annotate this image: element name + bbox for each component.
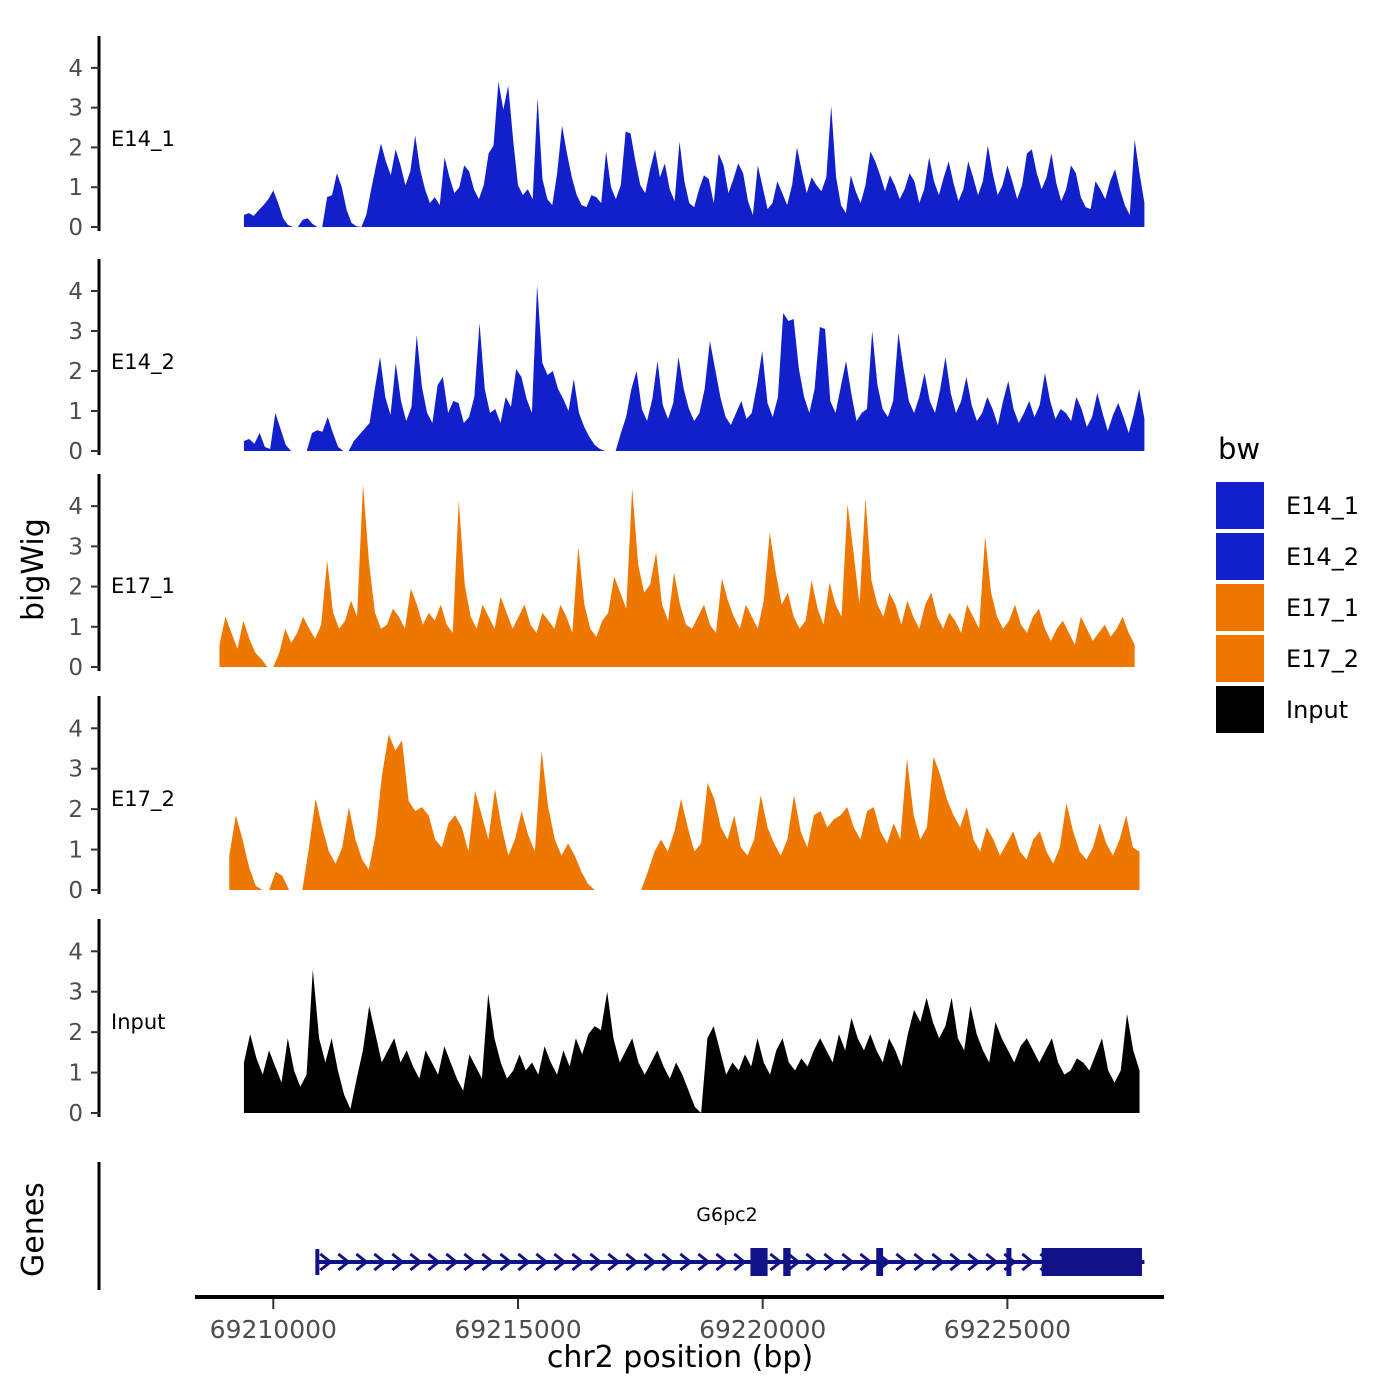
legend: bw E14_1E14_2E17_1E17_2Input bbox=[1216, 432, 1359, 735]
track-e14-1: 01234 bbox=[68, 36, 1144, 241]
legend-label: E17_2 bbox=[1286, 645, 1359, 673]
y-tick-label: 1 bbox=[68, 175, 83, 201]
y-tick-label: 0 bbox=[68, 878, 83, 904]
x-axis: 69210000692150006922000069225000 bbox=[195, 1297, 1164, 1344]
legend-swatch bbox=[1216, 533, 1264, 580]
x-axis-title: chr2 position (bp) bbox=[180, 1340, 1180, 1375]
legend-item-input[interactable]: Input bbox=[1216, 684, 1359, 735]
gene-exon bbox=[1042, 1248, 1142, 1276]
signal-area bbox=[244, 285, 1144, 451]
track-e17-2: 01234 bbox=[68, 696, 1139, 904]
y-tick-label: 0 bbox=[68, 215, 83, 241]
y-tick-label: 3 bbox=[68, 534, 83, 560]
track-input: 01234 bbox=[68, 919, 1139, 1127]
y-tick-label: 1 bbox=[68, 399, 83, 425]
legend-item-e17-1[interactable]: E17_1 bbox=[1216, 582, 1359, 633]
legend-label: E17_1 bbox=[1286, 594, 1359, 622]
signal-area bbox=[219, 484, 1134, 667]
y-tick-label: 2 bbox=[68, 797, 83, 823]
legend-label: E14_2 bbox=[1286, 543, 1359, 571]
legend-swatch bbox=[1216, 686, 1264, 733]
y-tick-label: 1 bbox=[68, 838, 83, 864]
genome-browser-plot: 0123401234012340123401234692100006921500… bbox=[0, 0, 1400, 1400]
y-tick-label: 4 bbox=[68, 56, 83, 82]
y-tick-label: 0 bbox=[68, 1101, 83, 1127]
track-label-input: Input bbox=[111, 1010, 165, 1034]
y-tick-label: 3 bbox=[68, 319, 83, 345]
legend-swatch bbox=[1216, 482, 1264, 529]
y-tick-label: 0 bbox=[68, 655, 83, 681]
legend-label: E14_1 bbox=[1286, 492, 1359, 520]
legend-swatch bbox=[1216, 584, 1264, 631]
gene-exon bbox=[876, 1248, 883, 1276]
legend-label: Input bbox=[1286, 696, 1348, 724]
legend-title: bw bbox=[1216, 432, 1359, 466]
y-tick-label: 2 bbox=[68, 359, 83, 385]
gene-exon bbox=[783, 1248, 790, 1276]
y-tick-label: 1 bbox=[68, 1061, 83, 1087]
y-tick-label: 4 bbox=[68, 494, 83, 520]
signal-area bbox=[244, 82, 1144, 227]
track-label-e17-2: E17_2 bbox=[111, 787, 175, 811]
legend-item-e14-1[interactable]: E14_1 bbox=[1216, 480, 1359, 531]
y-tick-label: 2 bbox=[68, 575, 83, 601]
y-tick-label: 4 bbox=[68, 716, 83, 742]
track-e17-1: 01234 bbox=[68, 474, 1134, 681]
y-tick-label: 0 bbox=[68, 439, 83, 465]
y-tick-label: 4 bbox=[68, 279, 83, 305]
y-tick-label: 3 bbox=[68, 757, 83, 783]
legend-items: E14_1E14_2E17_1E17_2Input bbox=[1216, 480, 1359, 735]
gene-exon bbox=[1006, 1248, 1011, 1276]
y-tick-label: 2 bbox=[68, 1020, 83, 1046]
track-e14-2: 01234 bbox=[68, 259, 1144, 465]
legend-swatch bbox=[1216, 635, 1264, 682]
y-tick-label: 4 bbox=[68, 939, 83, 965]
gene-name-label: G6pc2 bbox=[577, 1204, 877, 1226]
y-tick-label: 3 bbox=[68, 96, 83, 122]
signal-area bbox=[229, 734, 1139, 890]
y-tick-label: 2 bbox=[68, 135, 83, 161]
y-tick-label: 3 bbox=[68, 980, 83, 1006]
signal-area bbox=[244, 969, 1140, 1113]
y-tick-label: 1 bbox=[68, 615, 83, 641]
legend-item-e14-2[interactable]: E14_2 bbox=[1216, 531, 1359, 582]
legend-item-e17-2[interactable]: E17_2 bbox=[1216, 633, 1359, 684]
track-label-e17-1: E17_1 bbox=[111, 574, 175, 598]
gene-track bbox=[99, 1162, 1144, 1290]
track-label-e14-1: E14_1 bbox=[111, 127, 175, 151]
gene-exon bbox=[750, 1248, 767, 1276]
track-label-e14-2: E14_2 bbox=[111, 350, 175, 374]
